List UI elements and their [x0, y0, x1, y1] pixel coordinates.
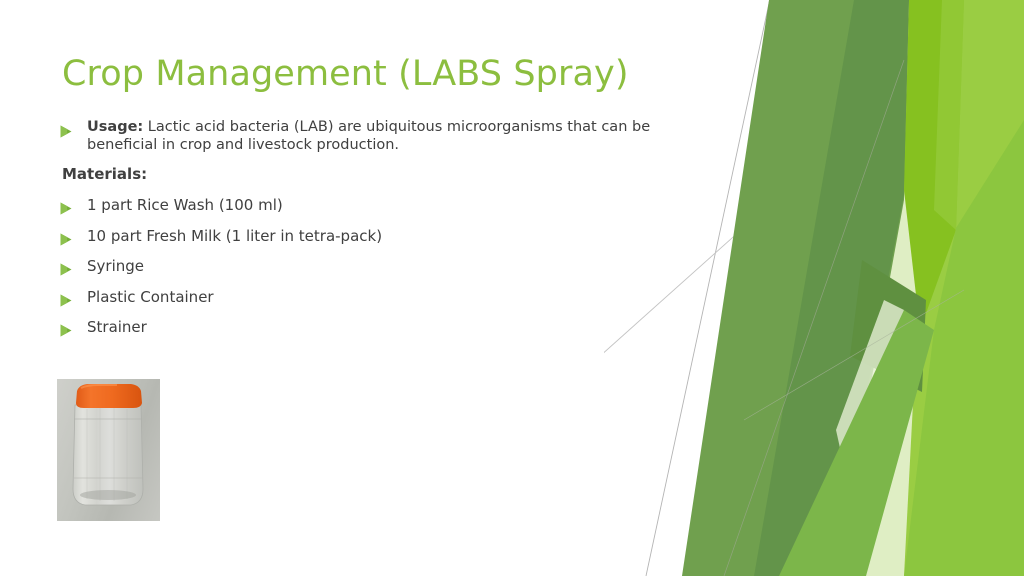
- list-item-text: 1 part Rice Wash (100 ml): [87, 196, 283, 214]
- materials-heading: Materials:: [57, 164, 657, 183]
- triangle-right-icon: [60, 200, 72, 213]
- presentation-slide: Crop Management (LABS Spray) Usage: Lact…: [0, 0, 1024, 576]
- triangle-right-icon: [60, 261, 72, 274]
- list-item: 10 part Fresh Milk (1 liter in tetra-pac…: [57, 227, 657, 245]
- list-item-text: Usage: Lactic acid bacteria (LAB) are ub…: [87, 119, 657, 154]
- triangle-right-icon: [60, 322, 72, 335]
- list-item: Usage: Lactic acid bacteria (LAB) are ub…: [57, 119, 657, 154]
- triangle-right-icon: [60, 231, 72, 244]
- list-item: 1 part Rice Wash (100 ml): [57, 196, 657, 214]
- list-item: Strainer: [57, 318, 657, 336]
- page-title: Crop Management (LABS Spray): [62, 52, 702, 96]
- list-item-text: Syringe: [87, 257, 144, 275]
- list-item-text: Strainer: [87, 318, 147, 336]
- usage-description: Lactic acid bacteria (LAB) are ubiquitou…: [87, 119, 650, 153]
- usage-label: Usage:: [87, 119, 143, 135]
- materials-heading-text: Materials:: [62, 165, 147, 183]
- triangle-right-icon: [60, 123, 72, 136]
- slide-body: Usage: Lactic acid bacteria (LAB) are ub…: [57, 119, 657, 349]
- list-item-text: Plastic Container: [87, 288, 214, 306]
- list-item-text: 10 part Fresh Milk (1 liter in tetra-pac…: [87, 227, 382, 245]
- list-item: Plastic Container: [57, 288, 657, 306]
- triangle-right-icon: [60, 292, 72, 305]
- plastic-container-photo: [57, 379, 160, 521]
- list-item: Syringe: [57, 257, 657, 275]
